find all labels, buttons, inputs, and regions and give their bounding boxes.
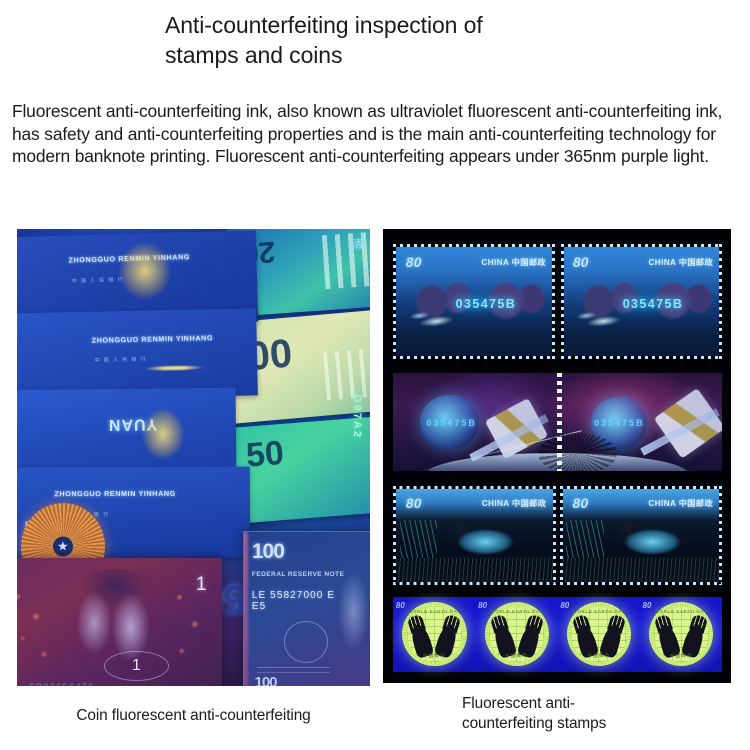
stamp-item: 80 CHINA 中国邮政 035475B — [393, 244, 555, 360]
fluorescent-emblem — [118, 241, 172, 299]
description-paragraph: Fluorescent anti-counterfeiting ink, als… — [12, 100, 740, 168]
figure-coin-fluorescent: 20 100 50 ZHONGGUO RENMIN YINHANG 中 国 人 … — [17, 229, 370, 686]
caption-left: Coin fluorescent anti-counterfeiting — [17, 706, 370, 726]
security-strip — [323, 347, 370, 401]
stamp-country-label: CHINA 中国邮政 — [482, 497, 547, 509]
emblem-bottom-text: 中国邮政 — [670, 653, 693, 659]
vertical-serial-number: G97A2 — [351, 394, 363, 439]
usd-serial-line-1: LE 55827000 E — [252, 590, 335, 601]
emblem-bottom-text: 中国邮政 — [423, 653, 446, 659]
stamp-artwork: 80 CHINA 中国邮政 — [563, 489, 719, 583]
fluorescent-serial-number: 035475B — [623, 297, 684, 311]
banknote-serial-number: FP83656475 — [29, 682, 95, 686]
stamp-country-label: CHINA 中国邮政 — [648, 497, 713, 509]
page-title-wrapper: Anti-counterfeiting inspection of stamps… — [0, 10, 750, 70]
stamp-denomination: 80 — [573, 254, 589, 270]
nest-floor — [396, 558, 552, 582]
bank-name-chinese: 中 国 人 民 银 行 — [94, 356, 146, 364]
bank-name-text: ZHONGGUO RENMIN YINHANG — [54, 488, 176, 497]
nesting-crane — [440, 517, 521, 560]
stamp-denomination: 80 — [396, 601, 405, 610]
fluorescent-serial-number: 035475B — [426, 418, 477, 428]
emblem-bottom-text: 中国邮政 — [587, 653, 610, 659]
chinese-character-mark: 清 — [352, 236, 363, 252]
page-title-line-1: Anti-counterfeiting inspection of — [165, 12, 483, 38]
stamp-row-protecting-earth-hands: 80 WORLD EARTH DAY 中国邮政 80 — [393, 597, 722, 672]
stamp-item: 80 WORLD EARTH DAY 中国邮政 — [558, 597, 640, 672]
stamp-item: 80 CHINA 中国邮政 035475B — [561, 244, 723, 360]
stamp-denomination: 80 — [573, 495, 589, 511]
floral-pattern-left — [17, 577, 60, 676]
page-title-line-2: stamps and coins — [165, 42, 342, 68]
emblem-bottom-text: 中国邮政 — [505, 653, 528, 659]
stamp-row-crane-scenic: 80 CHINA 中国邮政 035475B 80 CHINA 中国邮政 0354… — [393, 244, 722, 360]
portrait-franklin — [334, 561, 370, 681]
usd-treasury-seal — [284, 621, 329, 663]
fluorescent-serial-number: 035475B — [594, 418, 645, 428]
banknote-usd-100: 100 FEDERAL RESERVE NOTE LE 55827000 EE5… — [243, 531, 370, 686]
stamp-item: 035475B 035475B — [393, 373, 722, 471]
postmark-cancellation — [538, 433, 617, 471]
emblem-top-text: WORLD EARTH DAY — [655, 609, 707, 614]
product-info-page: Anti-counterfeiting inspection of stamps… — [0, 0, 750, 750]
stamp-denomination: 80 — [643, 601, 652, 610]
hands-emblem: WORLD EARTH DAY 中国邮政 — [402, 602, 466, 666]
stamp-item: 80 WORLD EARTH DAY 中国邮政 — [393, 597, 475, 672]
stamp-country-label: CHINA 中国邮政 — [648, 256, 713, 268]
stamp-denomination: 80 — [478, 601, 487, 610]
stamp-artwork: 80 CHINA 中国邮政 — [396, 489, 552, 583]
figure-fluorescent-stamps: 80 CHINA 中国邮政 035475B 80 CHINA 中国邮政 0354… — [383, 229, 731, 683]
stamp-artwork: 80 CHINA 中国邮政 035475B — [396, 247, 552, 357]
stamp-denomination: 80 — [560, 601, 569, 610]
banknote-denomination: 1 — [196, 574, 207, 596]
fluorescent-emblem — [142, 408, 185, 460]
perforation-divider — [557, 373, 562, 471]
usd-signature-line — [257, 667, 330, 668]
usd-denomination: 100 — [252, 540, 284, 564]
emblem-top-text: WORLD EARTH DAY — [408, 609, 460, 614]
figure-gallery: 20 100 50 ZHONGGUO RENMIN YINHANG 中 国 人 … — [0, 229, 750, 699]
page-title: Anti-counterfeiting inspection of stamps… — [165, 10, 585, 70]
hands-emblem: WORLD EARTH DAY 中国邮政 — [649, 602, 713, 666]
bank-name-text: ZHONGGUO RENMIN YINHANG — [91, 334, 213, 346]
caption-right: Fluorescent anti- counterfeiting stamps — [462, 694, 722, 734]
emblem-top-text: WORLD EARTH DAY — [491, 609, 543, 614]
fluorescent-arc — [143, 365, 204, 370]
usd-serial-line-2: E5 — [252, 601, 266, 612]
stamp-row-crane-nest: 80 CHINA 中国邮政 80 CHINA 中国邮政 — [393, 486, 722, 586]
usd-serial-number: LE 55827000 EE5 — [252, 590, 335, 612]
caption-right-line-2: counterfeiting stamps — [462, 715, 606, 732]
stamp-item: 80 WORLD EARTH DAY 中国邮政 — [640, 597, 722, 672]
banknote-rmb-1-yuan: 1 1 FP83656475 — [17, 558, 222, 686]
stamp-item: 80 CHINA 中国邮政 — [393, 486, 555, 586]
usd-denomination-bottom: 100 — [254, 674, 276, 686]
stamp-item: 80 CHINA 中国邮政 — [560, 486, 722, 586]
bank-name-chinese: 中 国 人 民 银 行 — [71, 276, 124, 284]
emblem-top-text: WORLD EARTH DAY — [573, 609, 625, 614]
caption-right-line-1: Fluorescent anti- — [462, 695, 575, 712]
hands-emblem: WORLD EARTH DAY 中国邮政 — [567, 602, 631, 666]
usd-legend: FEDERAL RESERVE NOTE — [252, 571, 344, 578]
stamp-denomination: 80 — [406, 254, 422, 270]
stamp-country-label: CHINA 中国邮政 — [481, 256, 546, 268]
nesting-crane — [607, 517, 688, 560]
stamp-row-space-satellite: 035475B 035475B — [393, 373, 722, 471]
security-thread — [243, 532, 248, 686]
stamp-denomination: 80 — [406, 495, 422, 511]
banknote-denomination: 50 — [244, 433, 285, 475]
stamp-item: 80 WORLD EARTH DAY 中国邮政 — [476, 597, 558, 672]
hands-emblem: WORLD EARTH DAY 中国邮政 — [485, 602, 549, 666]
fluorescent-serial-number: 035475B — [456, 297, 517, 311]
stamp-artwork: 035475B 035475B — [393, 373, 722, 471]
stamp-artwork: 80 CHINA 中国邮政 035475B — [564, 247, 720, 357]
nest-floor — [563, 558, 719, 582]
